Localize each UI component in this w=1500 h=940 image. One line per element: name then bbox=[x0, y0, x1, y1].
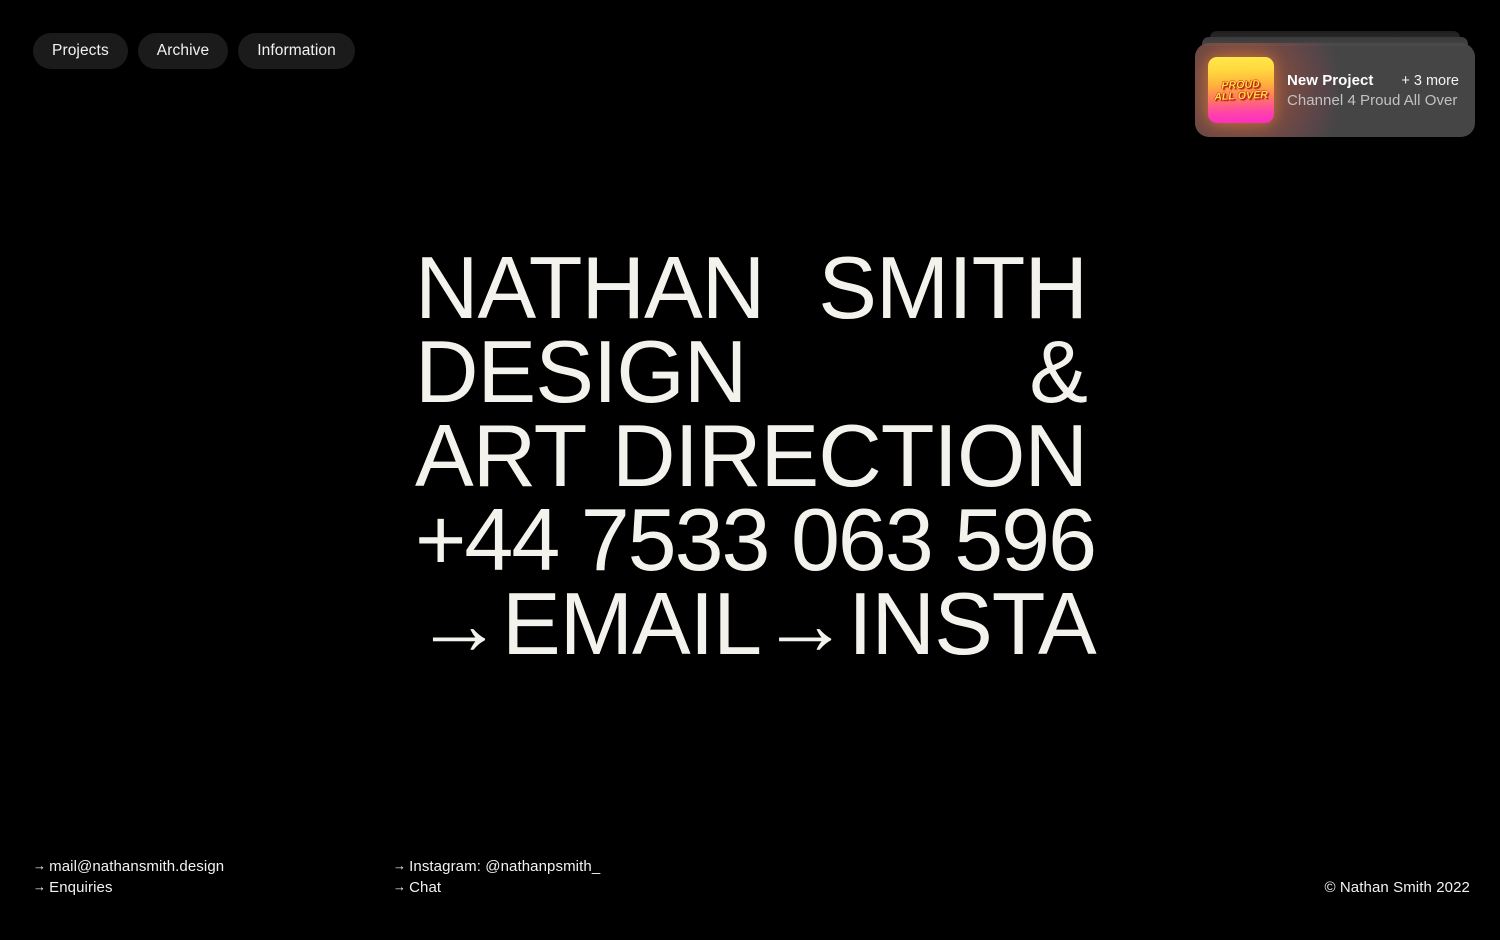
site-footer: →mail@nathansmith.design →Enquiries →Ins… bbox=[0, 856, 1500, 912]
notification-title: New Project bbox=[1287, 72, 1373, 89]
headline-word-design: DESIGN bbox=[415, 330, 746, 414]
arrow-right-icon: → bbox=[393, 855, 406, 876]
headline-word-smith: SMITH bbox=[818, 246, 1087, 330]
footer-link-instagram-label: Instagram: @nathanpsmith_ bbox=[409, 858, 600, 875]
footer-column-copyright: © Nathan Smith 2022 bbox=[1324, 877, 1470, 898]
notification-header-row: New Project + 3 more bbox=[1287, 72, 1461, 89]
nav-item-archive[interactable]: Archive bbox=[138, 33, 228, 69]
nav-item-information[interactable]: Information bbox=[238, 33, 355, 69]
notification-more-count[interactable]: + 3 more bbox=[1401, 73, 1461, 89]
footer-link-email[interactable]: →mail@nathansmith.design bbox=[33, 856, 224, 877]
headline-line-3: ART DIRECTION bbox=[415, 414, 1087, 498]
headline-word-ampersand: & bbox=[1029, 330, 1087, 414]
hero-headline: NATHAN SMITH DESIGN & ART DIRECTION +44 … bbox=[415, 246, 1087, 666]
headline-word-art: ART bbox=[415, 414, 586, 498]
headline-line-1: NATHAN SMITH bbox=[415, 246, 1087, 330]
headline-line-2: DESIGN & bbox=[415, 330, 1087, 414]
arrow-right-icon: → bbox=[33, 876, 46, 897]
footer-link-enquiries-label: Enquiries bbox=[49, 879, 112, 896]
headline-word-direction: DIRECTION bbox=[612, 414, 1087, 498]
footer-column-social: →Instagram: @nathanpsmith_ →Chat bbox=[393, 856, 600, 898]
footer-link-instagram[interactable]: →Instagram: @nathanpsmith_ bbox=[393, 856, 600, 877]
footer-link-email-label: mail@nathansmith.design bbox=[49, 858, 224, 875]
footer-column-contact: →mail@nathansmith.design →Enquiries bbox=[33, 856, 224, 898]
headline-email-link[interactable]: →EMAIL bbox=[415, 582, 761, 666]
headline-word-nathan: NATHAN bbox=[415, 246, 764, 330]
notification-subtitle: Channel 4 Proud All Over bbox=[1287, 92, 1461, 109]
artwork-title-text: PROUD ALL OVER bbox=[1214, 78, 1268, 101]
headline-line-5: →EMAIL →INSTA bbox=[415, 582, 1087, 666]
nav-item-projects[interactable]: Projects bbox=[33, 33, 128, 69]
notification-artwork-thumbnail: PROUD ALL OVER bbox=[1208, 57, 1274, 123]
footer-link-enquiries[interactable]: →Enquiries bbox=[33, 877, 224, 898]
headline-phone-number[interactable]: +44 7533 063 596 bbox=[415, 498, 1087, 582]
copyright-text: © Nathan Smith 2022 bbox=[1324, 879, 1470, 896]
notification-stack: PROUD ALL OVER New Project + 3 more Chan… bbox=[1195, 31, 1475, 137]
notification-body: New Project + 3 more Channel 4 Proud All… bbox=[1274, 72, 1461, 109]
notification-card[interactable]: PROUD ALL OVER New Project + 3 more Chan… bbox=[1195, 43, 1475, 137]
arrow-right-icon: → bbox=[33, 855, 46, 876]
footer-link-chat[interactable]: →Chat bbox=[393, 877, 600, 898]
headline-instagram-link[interactable]: →INSTA bbox=[761, 582, 1096, 666]
arrow-right-icon: → bbox=[393, 876, 406, 897]
main-navigation: Projects Archive Information bbox=[33, 33, 355, 69]
footer-link-chat-label: Chat bbox=[409, 879, 441, 896]
